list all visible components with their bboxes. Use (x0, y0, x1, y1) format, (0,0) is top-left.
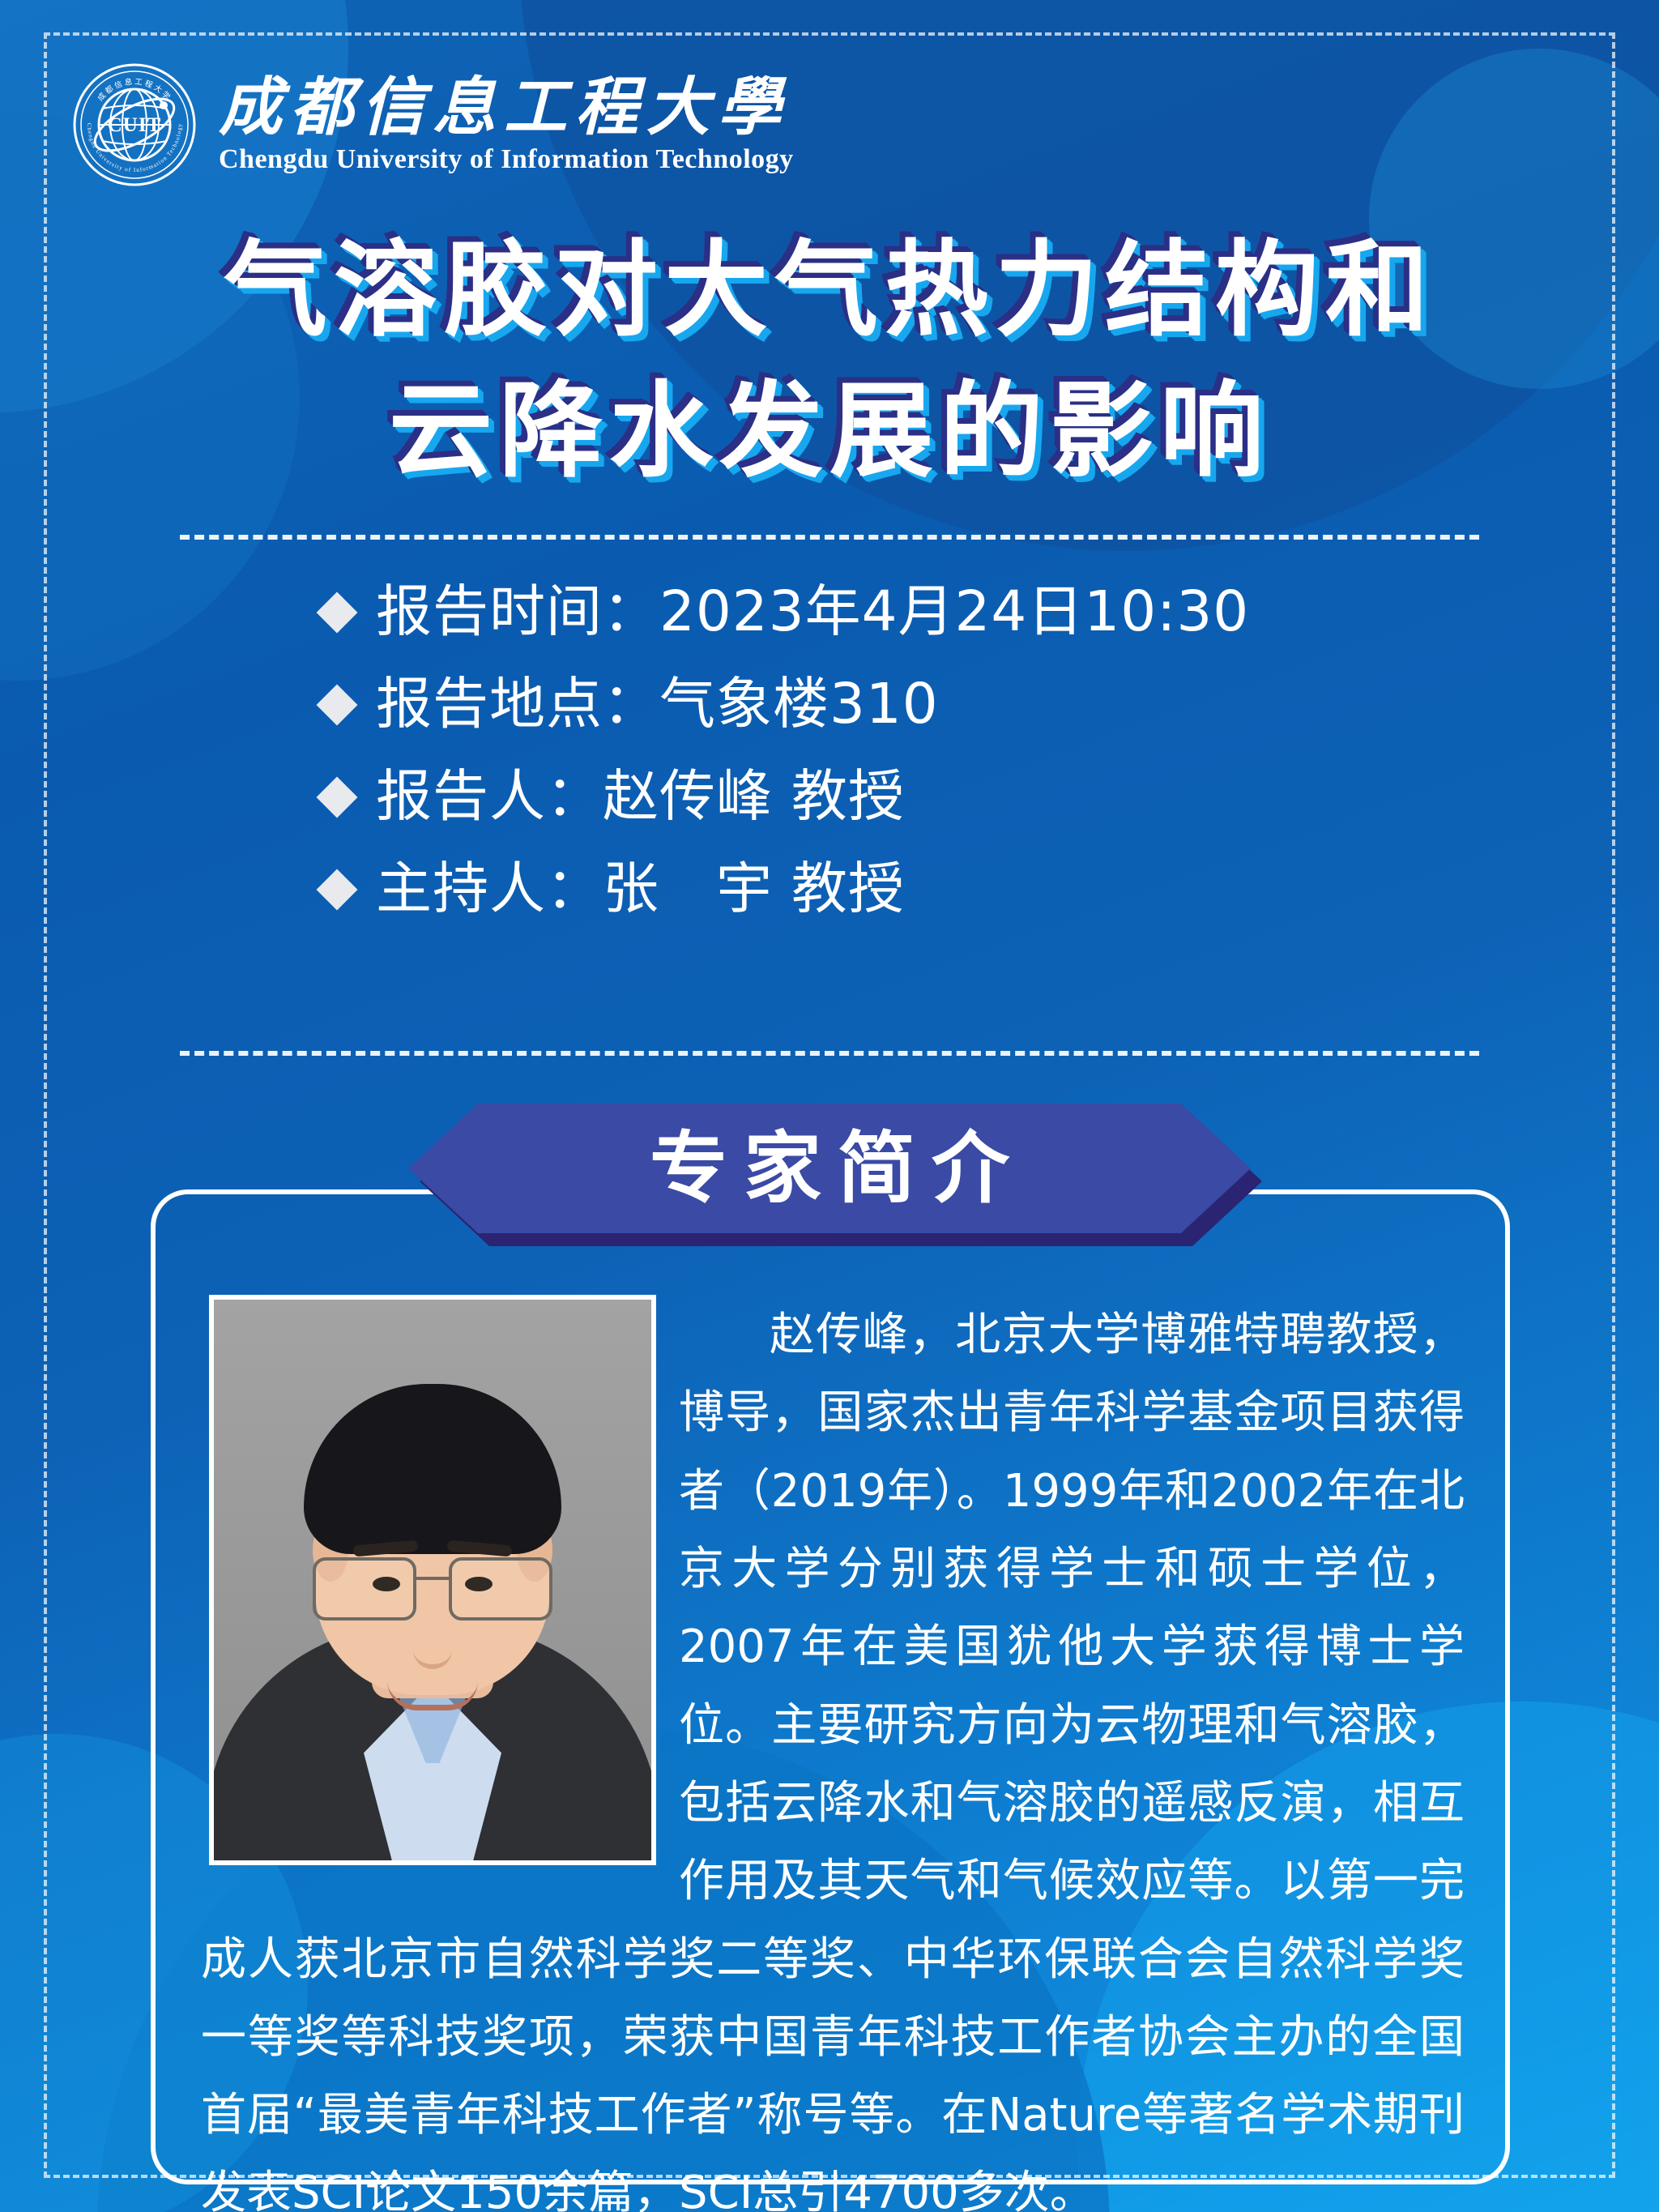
university-name-block: 成都信息工程大學 Chengdu University of Informati… (219, 75, 794, 175)
info-host-text: 主持人：张 宇 教授 (376, 859, 905, 920)
info-time-text: 报告时间：2023年4月24日10:30 (376, 582, 1249, 643)
page-title: 气溶胶对大气热力结构和 云降水发展的影响 (0, 220, 1659, 502)
expert-banner-label: 专家简介 (633, 1129, 1026, 1207)
expert-biography: 赵传峰，北京大学博雅特聘教授，博导，国家杰出青年科学基金项目获得者（2019年）… (201, 1296, 1465, 2212)
diamond-bullet-icon (317, 684, 358, 725)
divider-below-info (180, 1051, 1479, 1056)
title-line-1: 气溶胶对大气热力结构和 (0, 220, 1659, 361)
diamond-bullet-icon (317, 776, 358, 818)
title-line-2: 云降水发展的影响 (0, 361, 1659, 502)
university-name-en: Chengdu University of Information Techno… (219, 144, 794, 175)
diamond-bullet-icon (317, 869, 358, 910)
cuit-seal-icon: CUIT 成都信息工程大学 Chengdu University of Info… (73, 63, 196, 186)
event-info-list: 报告时间：2023年4月24日10:30 报告地点：气象楼310 报告人：赵传峰… (322, 582, 1249, 920)
info-speaker-text: 报告人：赵传峰 教授 (376, 767, 905, 828)
diamond-bullet-icon (317, 591, 358, 633)
expert-banner-face: 专家简介 (408, 1104, 1251, 1233)
poster-header: CUIT 成都信息工程大学 Chengdu University of Info… (73, 63, 794, 186)
poster-canvas: CUIT 成都信息工程大学 Chengdu University of Info… (0, 0, 1659, 2212)
info-row-location: 报告地点：气象楼310 (322, 674, 1249, 736)
info-location-text: 报告地点：气象楼310 (376, 674, 939, 736)
svg-text:CUIT: CUIT (108, 114, 162, 136)
university-name-cn: 成都信息工程大學 (219, 75, 794, 141)
divider-above-info (180, 535, 1479, 540)
expert-banner: 专家简介 (408, 1104, 1251, 1233)
info-row-host: 主持人：张 宇 教授 (322, 859, 1249, 920)
info-row-time: 报告时间：2023年4月24日10:30 (322, 582, 1249, 643)
info-row-speaker: 报告人：赵传峰 教授 (322, 767, 1249, 828)
bio-text-wrap-spacer (201, 1296, 679, 1880)
